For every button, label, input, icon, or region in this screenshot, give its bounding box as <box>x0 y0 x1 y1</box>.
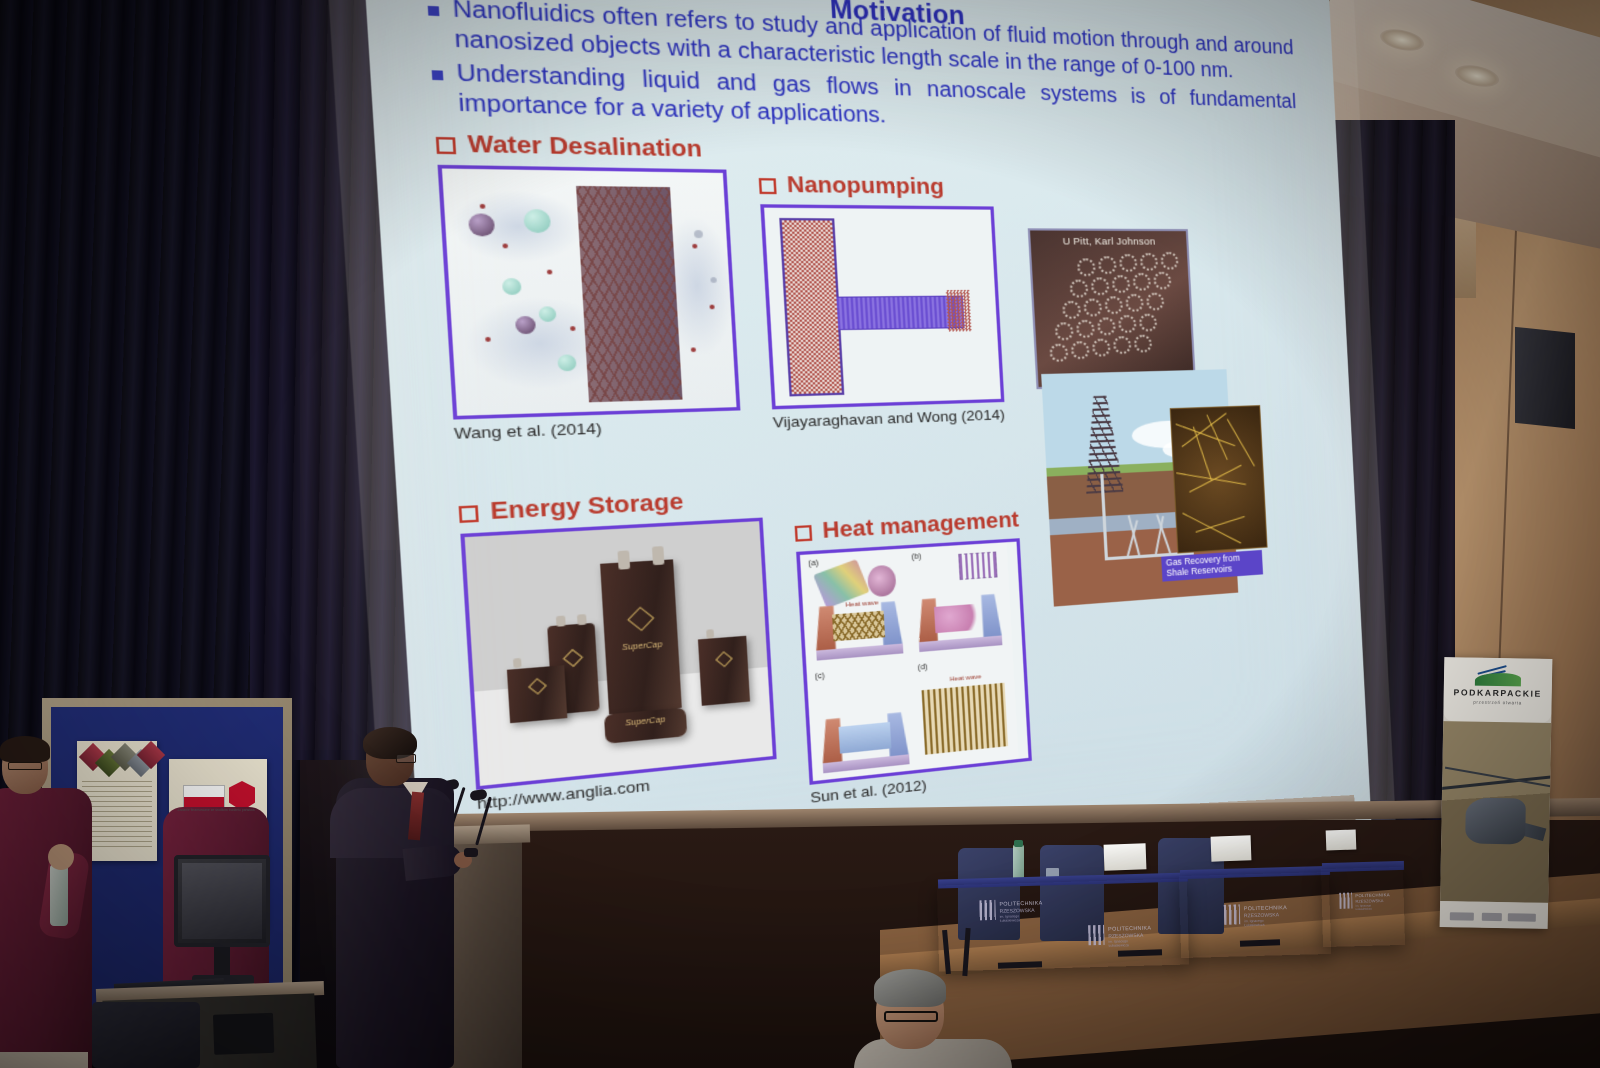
logo-line-3: im. Ignacego Łukasiewicza <box>1108 939 1144 948</box>
panel-table-3: POLITECHNIKA RZESZOWSKA im. Ignacego Łuk… <box>1321 867 1405 947</box>
figure-row-bottom: Energy Storage SuperCap <box>458 460 1329 844</box>
logo-line-3: im. Ignacego Łukasiewicza <box>1244 918 1280 927</box>
cnt-overlay-title: U Pitt, Karl Johnson <box>1030 236 1186 248</box>
figure-shale-gas-wrap: Gas Recovery from Shale Reservoirs <box>1041 370 1238 607</box>
figure-box <box>760 205 1004 410</box>
monitor-screen <box>182 863 262 939</box>
banner-photo-helicopter <box>1440 721 1551 903</box>
table-logo: POLITECHNIKA RZESZOWSKA im. Ignacego Łuk… <box>979 899 1036 923</box>
attendee-legs <box>0 1052 88 1068</box>
checkbox-icon <box>795 525 813 542</box>
name-card-text <box>1215 844 1247 845</box>
logo-line-1: POLITECHNIKA <box>1355 893 1390 899</box>
polish-flag-icon <box>183 785 225 809</box>
podkarpackie-banner: PODKARPACKIE przestrzeń otwarta <box>1440 657 1553 929</box>
name-card <box>1211 835 1252 861</box>
panel-label: (c) <box>815 673 825 682</box>
name-card-text <box>1108 852 1142 853</box>
helicopter-body <box>1465 797 1526 845</box>
section-heading: Nanopumping <box>758 173 993 202</box>
banner-logo-icon <box>1475 666 1521 687</box>
heat-panel-a: (a) Heat wave <box>805 553 910 663</box>
logo-line-3: im. Ignacego Łukasiewicza <box>1356 904 1385 911</box>
logo-mark-icon <box>1339 893 1352 909</box>
checkbox-icon <box>759 178 777 194</box>
banner-footer <box>1440 901 1548 929</box>
presenter-glasses-icon <box>396 754 416 763</box>
attendee-hair <box>0 736 50 762</box>
bottle-cap <box>1014 840 1023 847</box>
audience-shoulders <box>854 1039 1012 1068</box>
monitor-stand <box>214 947 230 977</box>
figure-caption: Wang et al. (2014) <box>454 415 742 442</box>
figure-caption: Vijayaraghavan and Wong (2014) <box>772 407 1005 432</box>
section-nanopumping: Nanopumping Vijayaraghavan and Wong (201… <box>758 173 1005 432</box>
banner-sponsor-logo <box>1450 912 1474 920</box>
figure-supercapacitors: SuperCap <box>465 522 773 787</box>
control-monitor <box>174 855 270 947</box>
heat-panel-d: (d) Heat wave <box>914 656 1014 766</box>
av-device <box>213 1013 274 1055</box>
banner-header: PODKARPACKIE przestrzeń otwarta <box>1443 657 1552 723</box>
name-card <box>1104 843 1147 870</box>
audience-hair <box>874 969 946 1007</box>
heat-panel-c: (c) <box>811 664 916 776</box>
attendee-glasses-icon <box>8 762 42 770</box>
bullet-square-icon <box>428 6 440 16</box>
mic-head-icon <box>469 789 487 802</box>
section-label: Nanopumping <box>786 173 944 201</box>
banner-hill-icon <box>1475 673 1521 687</box>
audience-front-person <box>856 975 1006 1068</box>
attendee-water-bottle <box>50 864 68 926</box>
logo-mark-icon <box>979 900 996 920</box>
table-logo: POLITECHNIKA RZESZOWSKA im. Ignacego Łuk… <box>1339 892 1384 911</box>
banner-sponsor-logo <box>1508 913 1536 921</box>
figure-fracture-network <box>1170 405 1268 553</box>
panel-label: (a) <box>808 560 819 568</box>
ejected-particles <box>945 290 971 332</box>
banner-sponsor-logo <box>1482 913 1502 921</box>
graphene-membrane <box>576 186 683 403</box>
figure-box: (a) Heat wave (b) <box>796 539 1032 786</box>
nanotube-ring-array <box>1040 254 1187 380</box>
attendee-hand <box>48 844 74 870</box>
conference-hall-photo: Motivation Nanofluidics often refers to … <box>0 0 1600 1068</box>
banner-brand: PODKARPACKIE <box>1444 687 1552 699</box>
banner-tagline: przestrzeń otwarta <box>1444 699 1552 706</box>
panel-label: (b) <box>911 553 921 561</box>
particle-reservoir <box>780 218 844 396</box>
section-label: Water Desalination <box>467 132 703 164</box>
slide-figure-grid: Water Desalination <box>435 131 1329 844</box>
logo-line-1: POLITECHNIKA <box>1108 926 1151 933</box>
bullet-square-icon <box>432 70 444 80</box>
table-logo: POLITECHNIKA RZESZOWSKA im. Ignacego Łuk… <box>1224 903 1281 927</box>
microphone-2 <box>462 790 532 846</box>
figure-cnt-hydrogen: U Pitt, Karl Johnson <box>1027 229 1195 390</box>
checkbox-icon <box>459 505 479 523</box>
panel-label: (d) <box>918 664 928 673</box>
checkbox-icon <box>436 137 456 154</box>
attendee-left-person <box>0 740 102 1068</box>
logo-line-1: POLITECHNIKA <box>1244 905 1287 912</box>
panel-table-1: POLITECHNIKA RZESZOWSKA im. Ignacego Łuk… <box>937 879 1189 972</box>
logo-mark-icon <box>1088 925 1105 945</box>
logo-mark-icon <box>1224 904 1241 924</box>
audience-glasses-icon <box>884 1011 938 1022</box>
figure-cnt-hydrogen-wrap: U Pitt, Karl Johnson <box>1027 229 1195 390</box>
logo-line-3: im. Ignacego Łukasiewicza <box>1000 914 1036 923</box>
figure-heat-management: (a) Heat wave (b) <box>800 543 1019 782</box>
wall-speaker-box <box>1515 327 1575 429</box>
presenter-person <box>330 730 460 1068</box>
figure-water-desalination <box>442 169 737 416</box>
heat-panel-b: (b) <box>908 547 1009 655</box>
figure-box <box>438 165 741 420</box>
mic-stem <box>475 797 492 846</box>
figure-box: SuperCap <box>460 518 776 790</box>
name-card <box>1326 829 1357 850</box>
figure-nanopumping <box>764 208 979 406</box>
section-energy-storage: Energy Storage SuperCap <box>458 486 778 813</box>
section-heading: Water Desalination <box>435 131 726 164</box>
section-heat-management: Heat management (a) <box>794 509 1033 807</box>
table-logo: POLITECHNIKA RZESZOWSKA im. Ignacego Łuk… <box>1088 924 1145 948</box>
presenter-clicker <box>464 848 478 857</box>
audience-seat-back <box>92 1002 200 1068</box>
logo-line-1: POLITECHNIKA <box>999 901 1042 908</box>
section-water-desalination: Water Desalination <box>435 131 741 443</box>
shale-caption-bar: Gas Recovery from Shale Reservoirs <box>1161 550 1263 581</box>
section-label: Energy Storage <box>490 490 685 527</box>
